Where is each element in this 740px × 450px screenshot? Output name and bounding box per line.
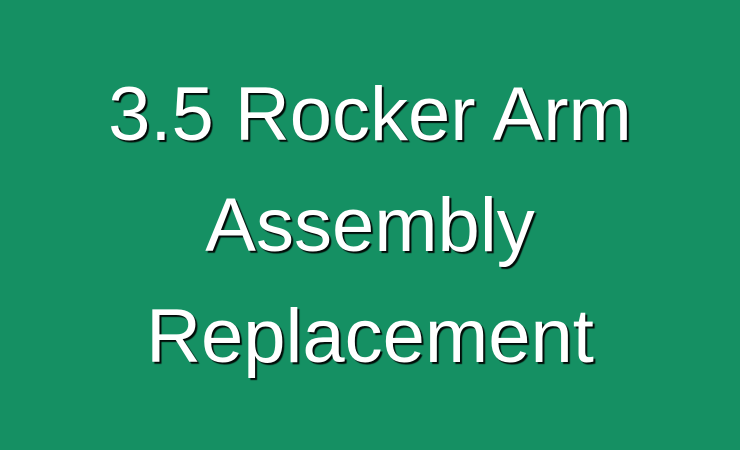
title-banner: 3.5 Rocker Arm Assembly Replacement <box>0 0 740 450</box>
page-title-line-1: 3.5 Rocker Arm <box>18 59 722 170</box>
page-title: 3.5 Rocker Arm Assembly Replacement <box>0 59 740 392</box>
page-title-line-2: Assembly <box>18 170 722 281</box>
page-title-line-3: Replacement <box>18 281 722 392</box>
